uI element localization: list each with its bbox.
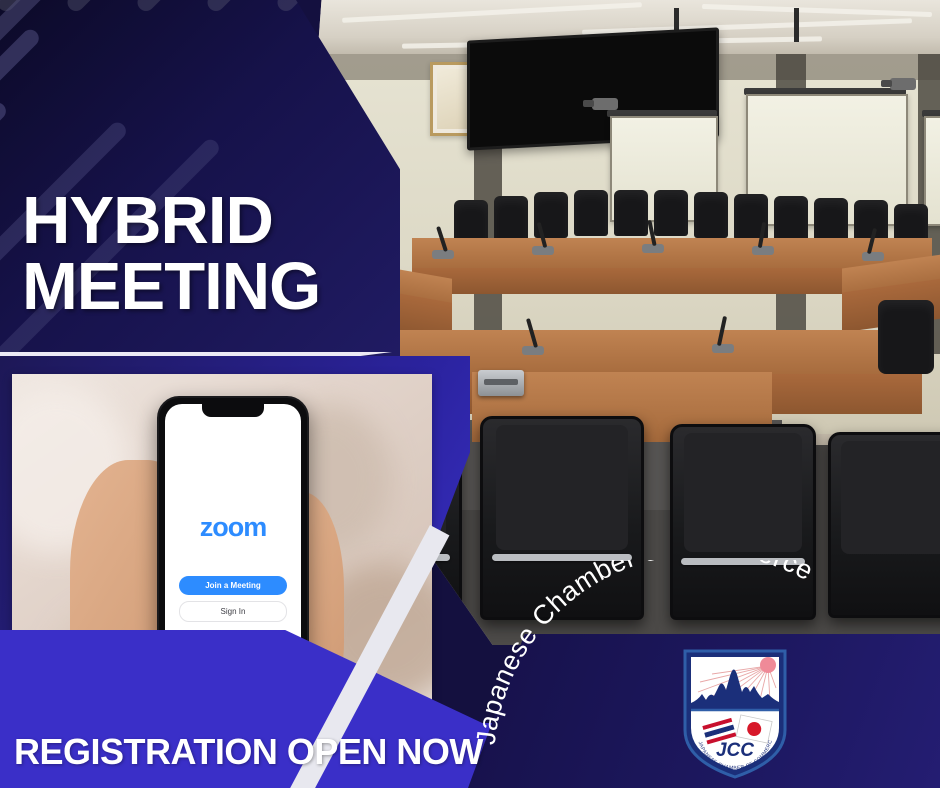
ceiling-projector (890, 78, 916, 90)
phone-notch (202, 404, 264, 417)
chair-armrest (681, 558, 804, 565)
chair (694, 192, 728, 238)
tv-mount-arm (794, 8, 799, 42)
ceiling-projector (592, 98, 618, 110)
table-microphone (712, 344, 734, 353)
foreground-chair (670, 424, 816, 620)
conference-control-unit (478, 370, 524, 396)
table-microphone (522, 346, 544, 355)
table-microphone (432, 250, 454, 259)
jcc-monogram: JCC (716, 740, 754, 761)
chair-armrest (492, 554, 631, 561)
zoom-logo: zoom (165, 512, 301, 543)
title-line-1: HYBRID (22, 188, 320, 254)
foreground-chair (828, 432, 940, 618)
chair (574, 190, 608, 236)
jcc-shield-logo: JCC JAPANESE CHAMBER OF COMMERCE BANGKOK (682, 648, 788, 780)
poster-title: HYBRID MEETING (22, 188, 320, 319)
title-line-2: MEETING (22, 254, 320, 320)
table-microphone (862, 252, 884, 261)
foreground-chair (480, 416, 644, 620)
chair (774, 196, 808, 242)
chair (878, 300, 934, 374)
chair (494, 196, 528, 242)
title-panel-divider (0, 352, 392, 356)
sign-in-button[interactable]: Sign In (179, 601, 287, 622)
poster-canvas: HYBRID MEETING zoom Join a Meeting Sign … (0, 0, 940, 788)
table-microphone (752, 246, 774, 255)
chair (614, 190, 648, 236)
registration-text: REGISTRATION OPEN NOW (14, 731, 483, 773)
join-meeting-button[interactable]: Join a Meeting (179, 576, 287, 595)
chair (654, 190, 688, 236)
